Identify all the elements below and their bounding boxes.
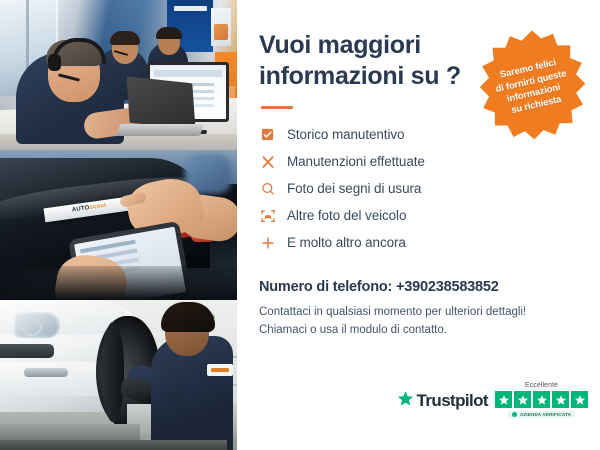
phone-subtext: Contattaci in qualsiasi momento per ulte… xyxy=(259,304,582,340)
trustpilot-wordmark: Trustpilot xyxy=(417,391,488,411)
magnifier-icon xyxy=(259,180,276,197)
tools-cross-icon xyxy=(259,153,276,170)
scan-car-icon xyxy=(259,207,276,224)
star-icon xyxy=(514,391,531,408)
list-item-label: Altre foto del veicolo xyxy=(287,208,406,223)
photo-technician-measuring-car-body-with-tablet: AUTOscout xyxy=(0,150,237,300)
phone-subtext-line-2: Chiamaci o usa il modulo di contatto. xyxy=(259,322,582,340)
star-icon xyxy=(533,391,550,408)
list-item-label: Manutenzioni effettuate xyxy=(287,154,425,169)
verified-business-badge: AZIENDA VERIFICATA xyxy=(508,411,575,418)
verified-label: AZIENDA VERIFICATA xyxy=(520,412,571,417)
badge-text: Saremo felici di fornirti queste informa… xyxy=(491,55,572,120)
list-item-label: Foto dei segni di usura xyxy=(287,181,421,196)
list-item: Foto dei segni di usura xyxy=(259,175,582,202)
page-title: Vuoi maggiori informazioni su ? xyxy=(259,30,464,91)
promo-banner: AUTOscout xyxy=(0,0,600,450)
phone-number-line[interactable]: Numero di telefono: +390238583852 xyxy=(259,279,582,295)
list-item-label: Storico manutentivo xyxy=(287,127,404,142)
laptop xyxy=(126,76,195,129)
plus-icon xyxy=(259,234,276,251)
phone-label: Numero di telefono: xyxy=(259,279,392,295)
photo-mechanic-inspecting-wheel-of-white-car-on-lift xyxy=(0,300,237,450)
phone-number[interactable]: +390238583852 xyxy=(396,279,499,295)
phone-block: Numero di telefono: +390238583852 Contat… xyxy=(259,279,582,340)
star-icon xyxy=(552,391,569,408)
trustpilot-logo: Trustpilot xyxy=(397,390,488,418)
content-panel: Vuoi maggiori informazioni su ? Storico … xyxy=(237,0,600,450)
trustpilot-rating-label: Eccellente xyxy=(525,382,558,389)
list-item: Manutenzioni effettuate xyxy=(259,148,582,175)
callout-badge: Saremo felici di fornirti queste informa… xyxy=(474,28,590,144)
clipboard-check-icon xyxy=(259,126,276,143)
photo-column: AUTOscout xyxy=(0,0,237,450)
list-item: Altre foto del veicolo xyxy=(259,202,582,229)
star-icon xyxy=(571,391,588,408)
list-item: E molto altro ancora xyxy=(259,229,582,256)
car-headlight xyxy=(14,312,60,338)
trustpilot-stars xyxy=(495,391,588,408)
list-item-label: E molto altro ancora xyxy=(287,235,406,250)
phone-subtext-line-1: Contattaci in qualsiasi momento per ulte… xyxy=(259,304,582,322)
trustpilot-widget[interactable]: Trustpilot Eccellente AZIENDA VERIFICATA xyxy=(397,382,588,418)
title-divider xyxy=(261,106,293,109)
star-icon xyxy=(495,391,512,408)
check-icon xyxy=(512,412,517,417)
wall-poster xyxy=(211,8,231,46)
trustpilot-star-icon xyxy=(397,390,414,412)
photo-call-center-agents-with-headsets xyxy=(0,0,237,150)
